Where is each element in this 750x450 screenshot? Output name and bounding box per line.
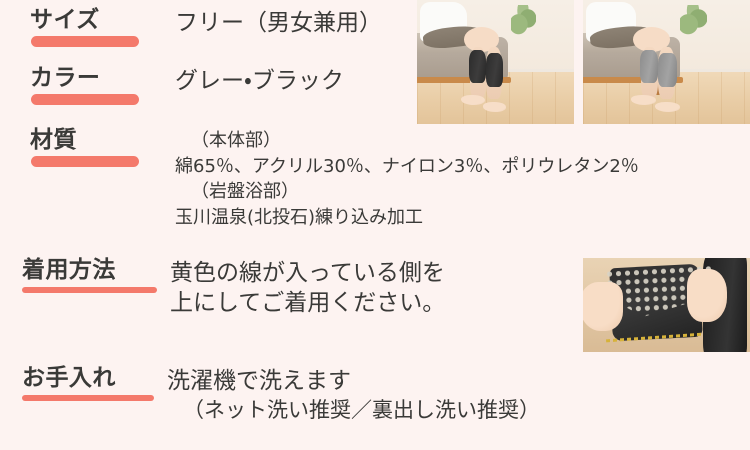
spec-value-size: フリー（男女兼用） [175, 8, 430, 38]
model-hand [687, 269, 727, 322]
underline-marker [31, 156, 139, 167]
spec-value-line: 綿65％、アクリル30％、ナイロン3％、ポリウレタン2％ [175, 154, 745, 180]
leg-warmer-grey [658, 53, 676, 86]
leg-warmer-black [469, 50, 486, 83]
spec-label-material: 材質 [30, 128, 175, 153]
spec-value-line: フリー（男女兼用） [175, 8, 430, 38]
photo-black-leg-warmer-worn [417, 0, 574, 124]
underline-marker [22, 287, 157, 293]
spec-label-size: サイズ [30, 8, 175, 33]
spec-value-line: 上にしてご着用ください。 [170, 288, 445, 318]
spec-row-size: サイズ フリー（男女兼用） [30, 8, 430, 38]
spec-value-line: 黄色の線が入っている側を [170, 258, 445, 288]
spec-label-care: お手入れ [22, 366, 167, 391]
spec-row-color: カラー グレー・ブラック [30, 66, 430, 96]
underline-marker [31, 94, 139, 105]
spec-value-care: 洗濯機で洗えます （ネット洗い推奨／裏出し洗い推奨） [167, 366, 582, 426]
spec-label-color: カラー [30, 66, 175, 91]
spec-label-how-to-wear-text: 着用方法 [22, 257, 116, 283]
spec-label-size-text: サイズ [30, 7, 100, 33]
underline-marker [22, 395, 154, 401]
leg-warmer-grey [640, 50, 658, 83]
plant-icon [511, 5, 536, 37]
spec-row-care: お手入れ 洗濯機で洗えます （ネット洗い推奨／裏出し洗い推奨） [22, 366, 582, 426]
spec-value-line: （岩盤浴部） [175, 179, 745, 205]
spec-label-material-text: 材質 [30, 127, 77, 153]
model-foot [483, 102, 507, 112]
spec-value-line: 洗濯機で洗えます [167, 366, 582, 396]
spec-value-line: （本体部） [175, 128, 745, 154]
spec-value-how-to-wear: 黄色の線が入っている側を 上にしてご着用ください。 [170, 258, 445, 319]
spec-label-how-to-wear: 着用方法 [22, 258, 170, 283]
spec-value-line: グレー・ブラック [175, 66, 430, 96]
leg-warmer-black [486, 53, 503, 86]
photo-yellow-line-detail [583, 258, 750, 352]
spec-value-material: （本体部） 綿65％、アクリル30％、ナイロン3％、ポリウレタン2％ （岩盤浴部… [175, 128, 745, 230]
spec-value-line: （ネット洗い推奨／裏出し洗い推奨） [167, 396, 582, 426]
plant-icon [680, 5, 707, 37]
model-foot [655, 102, 680, 112]
spec-label-care-text: お手入れ [22, 365, 116, 391]
spec-label-color-text: カラー [30, 65, 100, 91]
spec-value-line: 玉川温泉(北投石)練り込み加工 [175, 205, 745, 231]
spec-row-material: 材質 （本体部） 綿65％、アクリル30％、ナイロン3％、ポリウレタン2％ （岩… [30, 128, 745, 230]
underline-marker [31, 36, 139, 47]
spec-row-how-to-wear: 着用方法 黄色の線が入っている側を 上にしてご着用ください。 [22, 258, 442, 319]
product-spec-sheet: サイズ フリー（男女兼用） カラー グレー・ブラック 材質 （本体部） 綿65％… [0, 0, 750, 450]
model-hand [583, 282, 623, 331]
spec-value-color: グレー・ブラック [175, 66, 430, 96]
photo-grey-leg-warmer-worn [583, 0, 750, 124]
